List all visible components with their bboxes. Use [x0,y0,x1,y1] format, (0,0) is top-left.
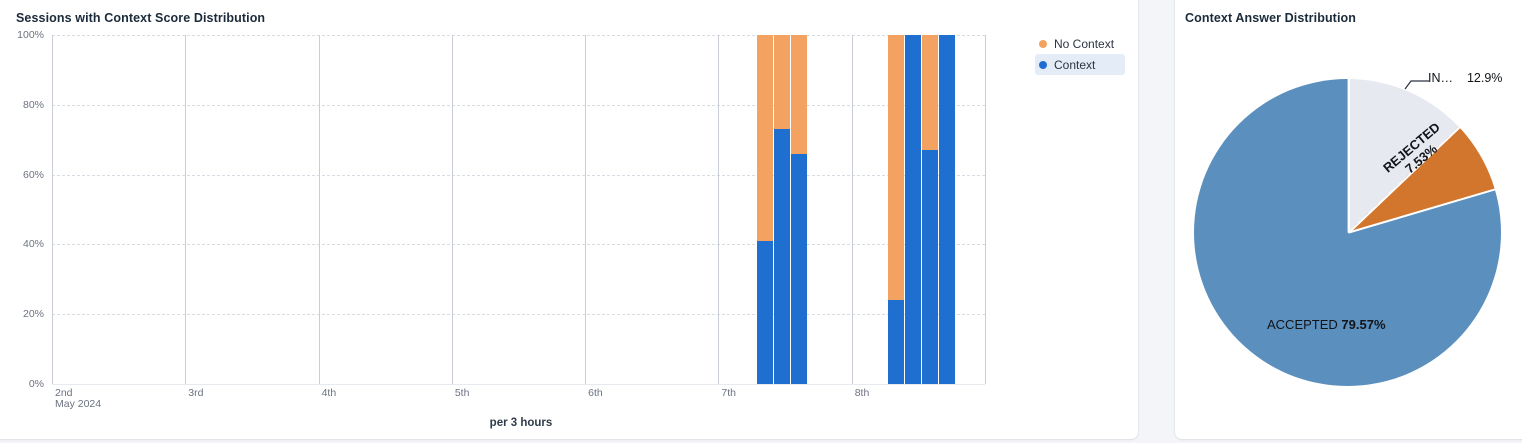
legend-color-dot-icon [1039,61,1047,69]
legend-item-context[interactable]: Context [1035,54,1125,75]
x-axis-title: per 3 hours [0,417,1042,429]
bar-segment-context[interactable] [922,150,938,384]
pie-label-accepted-name: ACCEPTED [1267,317,1338,332]
bar-stack[interactable] [939,35,955,384]
bar-segment-context[interactable] [791,154,807,384]
legend-item-label: No Context [1054,37,1114,51]
bar-segment-no-context[interactable] [757,35,773,241]
y-axis-tick-label: 20% [4,308,44,320]
bar-segment-context[interactable] [757,241,773,384]
bar-segment-context[interactable] [774,129,790,384]
bar-chart-title: Sessions with Context Score Distribution [16,11,265,25]
bar-segment-context[interactable] [905,35,921,384]
gridline-horizontal [52,314,985,315]
bar-stack[interactable] [888,35,904,384]
plot-border-vertical [985,35,986,384]
bar-segment-context[interactable] [939,35,955,384]
pie-label-inconclusive: IN… 12.9% [1428,71,1502,85]
legend-color-dot-icon [1039,40,1047,48]
gridline-horizontal [52,244,985,245]
x-axis-tick-label: 7th [718,387,736,399]
y-axis-tick-label: 60% [4,169,44,181]
x-axis-tick-label: 4th [319,387,337,399]
x-axis-tick-label: 8th [852,387,870,399]
bar-segment-no-context[interactable] [888,35,904,300]
y-axis-tick-label: 100% [4,29,44,41]
bar-stack[interactable] [757,35,773,384]
pie-chart[interactable]: ACCEPTED 79.57% REJECTED 7.53% [1194,79,1501,386]
gridline-vertical-day [452,35,453,384]
plot-border-vertical [52,35,53,384]
y-axis-tick-label: 0% [4,378,44,390]
gridline-horizontal [52,175,985,176]
legend-item-label: Context [1054,58,1095,72]
y-axis-tick-label: 80% [4,99,44,111]
bar-stack[interactable] [791,35,807,384]
x-axis-tick-label: 3rd [185,387,203,399]
x-axis-tick-label: 6th [585,387,603,399]
bar-stack[interactable] [774,35,790,384]
pie-label-accepted-value: 79.57% [1341,317,1385,332]
legend-item-no-context[interactable]: No Context [1035,33,1125,54]
bar-segment-no-context[interactable] [774,35,790,129]
gridline-vertical-day [852,35,853,384]
pie-label-accepted: ACCEPTED 79.57% [1267,317,1386,332]
bar-stack[interactable] [905,35,921,384]
bar-segment-no-context[interactable] [791,35,807,154]
y-axis-tick-label: 40% [4,238,44,250]
bar-segment-context[interactable] [888,300,904,384]
gridline-vertical-day [718,35,719,384]
dashboard-root: Sessions with Context Score Distribution… [0,0,1522,443]
bar-segment-no-context[interactable] [922,35,938,150]
gridline-vertical-day [585,35,586,384]
pie-label-inconclusive-name: IN… [1428,71,1453,85]
gridline-vertical-day [185,35,186,384]
pie-leader-line-icon [1404,76,1430,90]
bar-chart-legend[interactable]: No ContextContext [1035,33,1130,75]
x-axis-tick-label: 5th [452,387,470,399]
pie-label-inconclusive-value: 12.9% [1467,71,1502,85]
bar-chart-plot-area[interactable] [52,35,985,384]
bar-stack[interactable] [922,35,938,384]
x-axis-line [52,384,985,385]
gridline-horizontal [52,105,985,106]
pie-divider-start [1348,79,1350,233]
gridline-vertical-day [319,35,320,384]
pie-chart-title: Context Answer Distribution [1185,11,1356,25]
x-axis-month-label: May 2024 [52,398,101,410]
gridline-horizontal [52,35,985,36]
